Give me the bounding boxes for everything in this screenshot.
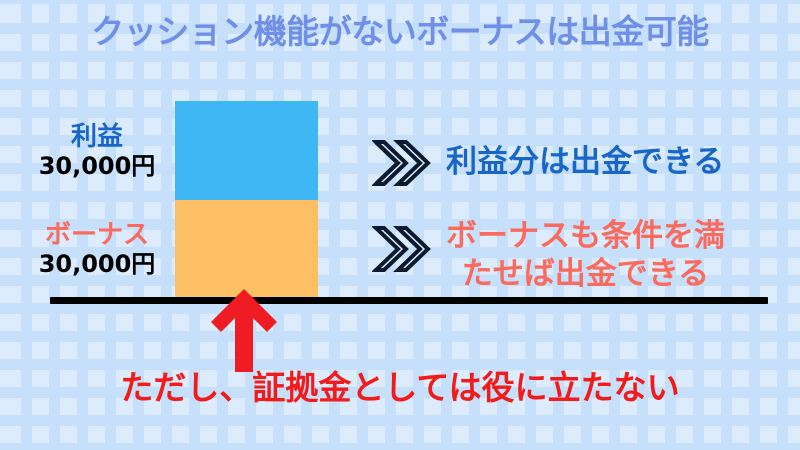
baseline-rule (50, 297, 768, 304)
double-chevron-right-icon (372, 222, 432, 276)
callout-text-bonus: ボーナスも条件を満 たせば出金できる (446, 218, 725, 294)
up-arrow-icon (209, 286, 279, 372)
legend-label-profit: 利益 (22, 124, 172, 151)
stacked-bar-chart (175, 101, 318, 300)
legend-label-bonus: ボーナス (22, 222, 172, 249)
legend-amount-profit: 30,000円 (22, 154, 172, 179)
legend-item-bonus: ボーナス 30,000円 (22, 222, 172, 277)
double-chevron-right-icon (372, 136, 432, 190)
bar-segment-profit (175, 101, 318, 200)
bar-segment-bonus (175, 200, 318, 300)
legend-item-profit: 利益 30,000円 (22, 124, 172, 179)
page-title: クッション機能がないボーナスは出金可能 (0, 12, 800, 52)
infographic-stage: クッション機能がないボーナスは出金可能 利益 30,000円 ボーナス 30,0… (0, 0, 800, 450)
callout-bonus: ボーナスも条件を満 たせば出金できる (372, 218, 725, 294)
callout-profit: 利益分は出金できる (372, 136, 724, 190)
bottom-caption: ただし、証拠金としては役に立たない (0, 368, 800, 408)
legend-amount-bonus: 30,000円 (22, 252, 172, 277)
callout-text-profit: 利益分は出金できる (446, 144, 724, 182)
